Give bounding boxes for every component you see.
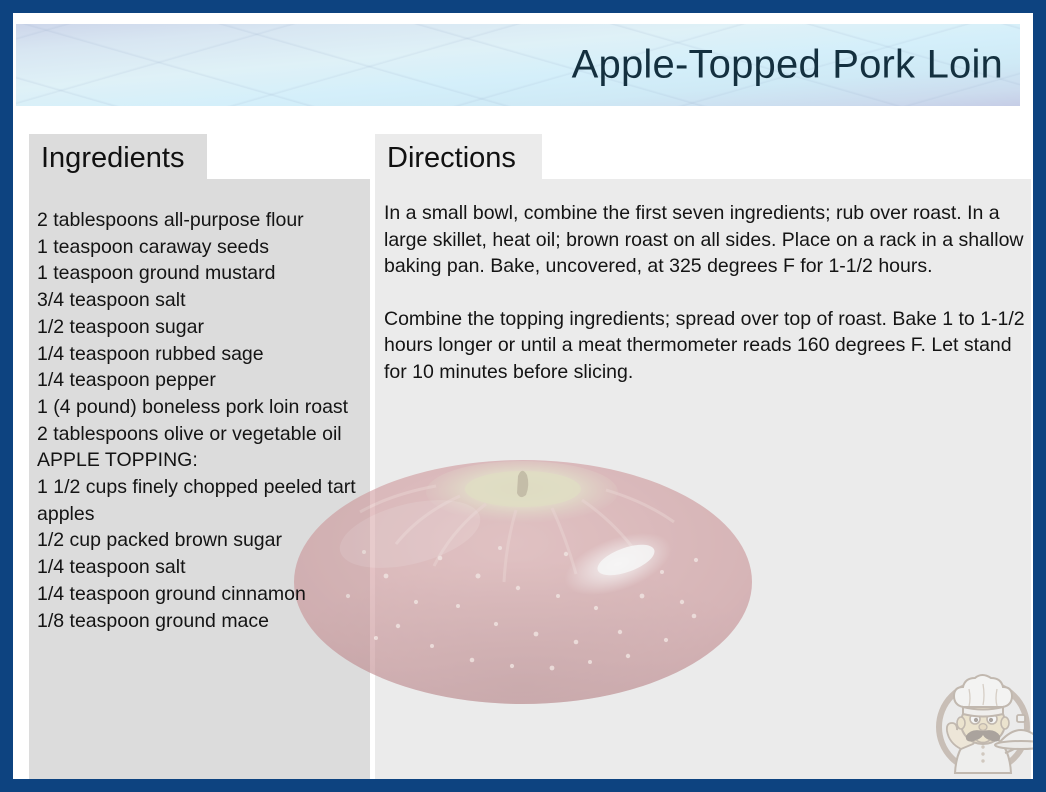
direction-paragraph: In a small bowl, combine the first seven…: [384, 200, 1030, 280]
ingredient-item: 1/4 teaspoon ground cinnamon: [37, 581, 367, 608]
ingredient-item: 1/4 teaspoon pepper: [37, 367, 367, 394]
recipe-slide: Apple-Topped Pork Loin Ingredients 2 tab…: [0, 0, 1046, 792]
directions-heading: Directions: [387, 142, 516, 175]
directions-panel: Directions In a small bowl, combine the …: [375, 134, 1031, 788]
ingredient-item: 1/2 cup packed brown sugar: [37, 527, 367, 554]
ingredients-header-tab: Ingredients: [29, 134, 207, 179]
ingredient-item: 1/2 teaspoon sugar: [37, 314, 367, 341]
ingredient-item: 1 (4 pound) boneless pork loin roast: [37, 394, 367, 421]
ingredients-list: 2 tablespoons all-purpose flour1 teaspoo…: [37, 207, 367, 634]
ingredient-item: 2 tablespoons all-purpose flour: [37, 207, 367, 234]
ingredient-item: 1/4 teaspoon rubbed sage: [37, 341, 367, 368]
ingredient-item: 1/4 teaspoon salt: [37, 554, 367, 581]
ingredient-item: APPLE TOPPING:: [37, 447, 367, 474]
direction-paragraph: Combine the topping ingredients; spread …: [384, 306, 1030, 386]
ingredients-panel: Ingredients 2 tablespoons all-purpose fl…: [29, 134, 370, 788]
ingredient-item: 3/4 teaspoon salt: [37, 287, 367, 314]
directions-text: In a small bowl, combine the first seven…: [384, 200, 1030, 386]
ingredient-item: 1 teaspoon ground mustard: [37, 260, 367, 287]
page-title: Apple-Topped Pork Loin: [572, 43, 1003, 88]
ingredient-item: 1/8 teaspoon ground mace: [37, 608, 367, 635]
title-banner: Apple-Topped Pork Loin: [16, 24, 1020, 106]
ingredient-item: 1 1/2 cups finely chopped peeled tart ap…: [37, 474, 367, 527]
directions-header-tab: Directions: [375, 134, 542, 179]
ingredient-item: 1 teaspoon caraway seeds: [37, 234, 367, 261]
ingredients-heading: Ingredients: [41, 142, 185, 175]
ingredient-item: 2 tablespoons olive or vegetable oil: [37, 421, 367, 448]
